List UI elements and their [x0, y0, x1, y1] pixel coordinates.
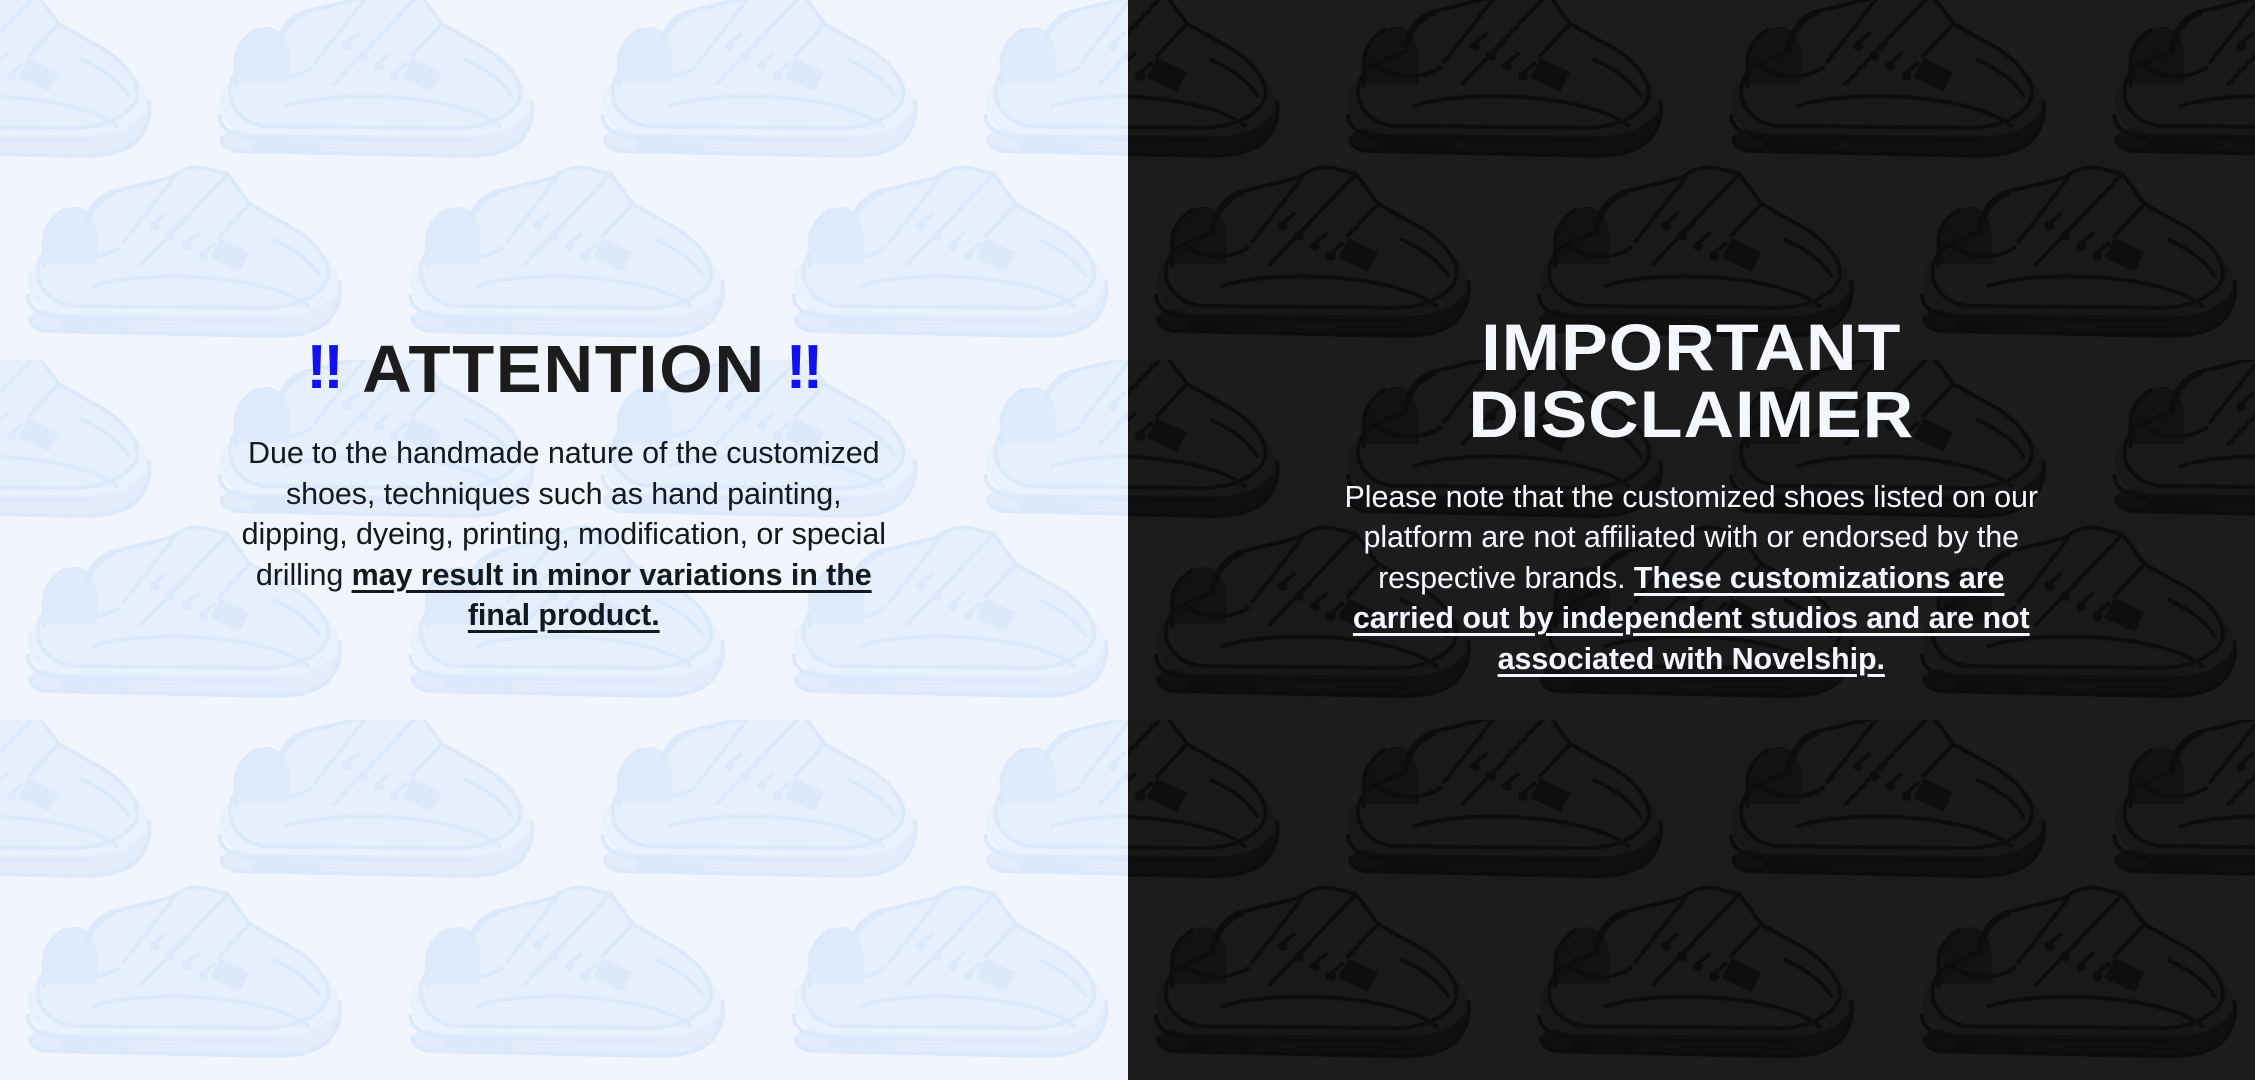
disclaimer-panel: IMPORTANT DISCLAIMER Please note that th… [1128, 0, 2255, 1080]
attention-heading-word: ATTENTION [362, 336, 766, 403]
disclaimer-banner: ‼ ATTENTION ‼ Due to the handmade nature… [0, 0, 2255, 1080]
double-exclamation-left-icon: ‼ [306, 337, 341, 399]
attention-body: Due to the handmade nature of the custom… [234, 433, 894, 636]
disclaimer-heading: IMPORTANT DISCLAIMER [1468, 314, 1914, 449]
disclaimer-content: IMPORTANT DISCLAIMER Please note that th… [1128, 0, 2255, 679]
disclaimer-heading-line-2: DISCLAIMER [1468, 381, 1914, 448]
attention-heading: ‼ ATTENTION ‼ [306, 336, 821, 403]
attention-body-emphasis: may result in minor variations in the fi… [352, 558, 872, 633]
disclaimer-heading-line-1: IMPORTANT [1468, 314, 1914, 381]
attention-panel: ‼ ATTENTION ‼ Due to the handmade nature… [0, 0, 1128, 1080]
disclaimer-body: Please note that the customized shoes li… [1341, 477, 2041, 680]
double-exclamation-right-icon: ‼ [786, 337, 821, 399]
attention-content: ‼ ATTENTION ‼ Due to the handmade nature… [0, 0, 1128, 636]
